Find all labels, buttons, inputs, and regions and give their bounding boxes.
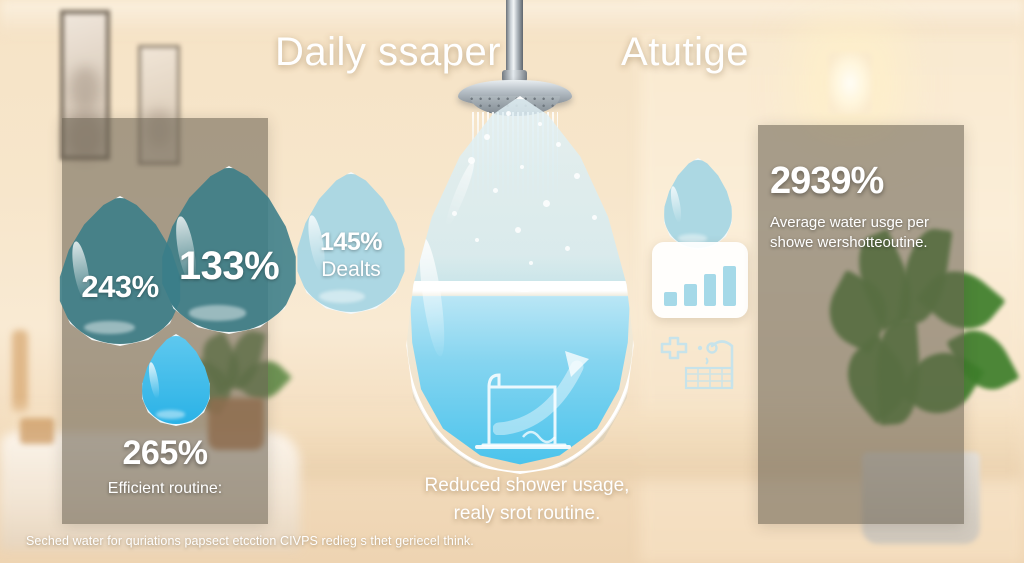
center-caption: Reduced shower usage, realy srot routine… <box>362 472 692 527</box>
droplet-plain-light <box>662 158 734 250</box>
towel-bar <box>12 330 28 414</box>
stat-2939-value: 2939% <box>770 160 962 203</box>
footer-text: Seched water for quriations papsect etcc… <box>26 534 726 548</box>
headline: Daily ssaper Atutige <box>0 30 1024 75</box>
droplet-plain-blue <box>140 334 212 426</box>
bar-chart-bar <box>684 284 697 306</box>
droplet-133-value: 133% <box>179 246 279 286</box>
water-drop-vessel <box>404 96 636 474</box>
center-caption-line2: realy srot routine. <box>362 500 692 528</box>
center-caption-line1: Reduced shower usage, <box>362 472 692 500</box>
stat-2939-caption-line1: Average water usge per <box>770 214 929 231</box>
tile-shower-icon <box>652 336 756 392</box>
plus-icon <box>662 338 686 358</box>
stat-2939: 2939% Average water usge per showe wersh… <box>770 160 962 254</box>
bar-chart-icon <box>652 242 748 318</box>
droplet-243-value: 243% <box>81 271 158 302</box>
droplet-145: 145% Dealts <box>294 172 408 314</box>
headline-left: Daily ssaper <box>275 30 501 75</box>
headline-right: Atutige <box>621 30 749 75</box>
stat-265-caption: Efficient routine: <box>60 480 270 498</box>
droplet-133: 133% <box>158 166 300 334</box>
stat-265-value: 265% <box>60 434 270 473</box>
faucet <box>20 418 54 444</box>
stat-265: 265% Efficient routine: <box>60 434 270 498</box>
bar-chart-bar <box>664 292 677 306</box>
vessel-foam-line <box>411 281 629 297</box>
upward-arrow-icon <box>493 337 605 435</box>
stat-2939-caption-line2: showe wershotteoutine. <box>770 234 928 251</box>
droplet-145-value: 145% <box>320 230 382 255</box>
vessel-outline <box>404 96 636 474</box>
bar-chart-bar <box>704 274 717 306</box>
infographic-canvas: Daily ssaper Atutige <box>0 0 1024 563</box>
droplet-145-sublabel: Dealts <box>321 258 381 281</box>
bubble-field <box>407 99 633 292</box>
bar-chart-bar <box>723 266 736 306</box>
